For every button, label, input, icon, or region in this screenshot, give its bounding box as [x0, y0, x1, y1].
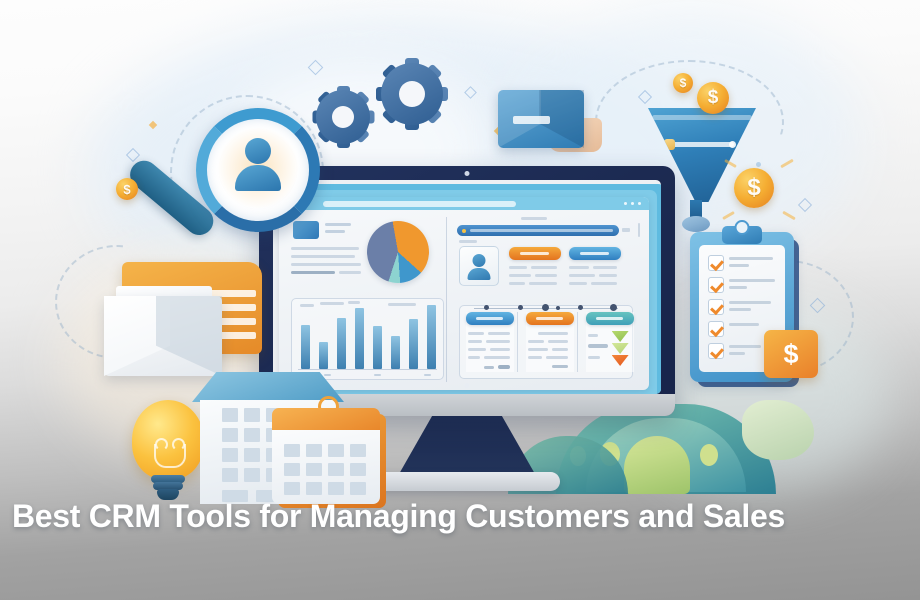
secondary-action-button[interactable]: [569, 247, 621, 260]
funnel-progress-tip: [729, 141, 736, 148]
chart-label: [320, 302, 344, 305]
calendar-cell: [328, 482, 344, 495]
card-line: [484, 356, 510, 359]
pane-heading: [521, 217, 547, 220]
text-line: [599, 274, 617, 277]
calendar-cell: [328, 444, 344, 457]
filter-button[interactable]: [622, 228, 630, 232]
gear-hole: [399, 81, 425, 107]
trend-up-chevron-icon: [612, 343, 629, 354]
bar: [355, 308, 364, 369]
window-control-dot[interactable]: [631, 202, 634, 205]
chart-label: [300, 304, 314, 307]
search-icon: [462, 229, 466, 233]
column-label: [536, 317, 563, 320]
card-line: [546, 356, 568, 359]
card-line: [548, 340, 568, 343]
magnifier-user-icon: [196, 108, 320, 232]
pie-chart: [367, 221, 429, 283]
search-input-value: [470, 229, 613, 232]
calendar-icon: [272, 408, 380, 504]
coin-label: $: [708, 87, 719, 109]
column-label: [476, 317, 503, 320]
pipeline-board: [459, 305, 633, 379]
envelope-letter: [513, 116, 549, 124]
text-line: [593, 266, 617, 269]
building-window: [222, 428, 238, 442]
card-line: [538, 332, 568, 335]
text-line: [509, 266, 527, 269]
calendar-cell: [284, 444, 300, 457]
checklist-item-line: [729, 301, 771, 304]
building-window: [222, 408, 238, 422]
contacts-pane: [451, 215, 643, 384]
bulb-filament: [154, 444, 186, 468]
thumbnail-label-line: [325, 230, 345, 233]
bar-chart: [291, 298, 444, 380]
checkbox-checked[interactable]: [708, 277, 724, 293]
gear-icon: [316, 90, 370, 144]
coin-dollar-icon: $: [116, 178, 138, 200]
checkbox-checked[interactable]: [708, 321, 724, 337]
pipeline-node[interactable]: [518, 305, 523, 310]
analytics-pane: [287, 215, 450, 384]
text-line: [291, 247, 359, 250]
clipboard-ring: [735, 220, 750, 235]
calendar-cell: [284, 463, 300, 476]
pipeline-column-won[interactable]: [586, 312, 634, 372]
card-line: [528, 348, 548, 351]
card-line: [490, 348, 510, 351]
funnel-progress-bar: [672, 142, 735, 147]
coin-dollar-icon: $: [734, 168, 774, 208]
card-footer-line: [552, 365, 568, 368]
dollar-card-icon: $: [764, 330, 818, 378]
building-window: [244, 428, 260, 442]
building-window: [222, 448, 238, 462]
funnel-rim: [652, 115, 751, 120]
pipeline-node[interactable]: [578, 305, 583, 310]
text-line: [459, 240, 477, 243]
building-window: [244, 448, 260, 462]
pipeline-column-deals[interactable]: [526, 312, 574, 372]
calendar-cell: [350, 444, 366, 457]
column-header[interactable]: [586, 312, 634, 325]
bar: [337, 318, 346, 369]
calendar-body: [272, 430, 380, 504]
user-head: [245, 138, 271, 164]
sparkle-icon: [756, 162, 761, 167]
checklist-item-line: [729, 257, 773, 260]
card-line: [468, 340, 482, 343]
gear-icon: [381, 63, 443, 125]
chart-label: [348, 301, 360, 304]
calendar-cell: [306, 444, 322, 457]
card-line: [488, 332, 510, 335]
column-header[interactable]: [526, 312, 574, 325]
button-label: [580, 252, 609, 255]
dollar-label: $: [783, 339, 798, 370]
pipeline-node[interactable]: [556, 306, 560, 310]
primary-action-button[interactable]: [509, 247, 561, 260]
window-titlebar: [279, 197, 649, 210]
chart-label: [388, 303, 416, 306]
text-line: [569, 274, 595, 277]
calendar-cell: [350, 463, 366, 476]
card-line: [552, 348, 568, 351]
text-line: [529, 282, 557, 285]
button-label: [520, 252, 549, 255]
checklist-item-line: [729, 323, 759, 326]
calendar-cell: [284, 482, 300, 495]
coin-label: $: [123, 182, 130, 197]
checklist-item-line: [729, 286, 747, 289]
crm-app-window: [279, 197, 649, 390]
window-control-dot[interactable]: [638, 202, 641, 205]
checklist-item-line: [729, 308, 751, 311]
card-line: [528, 340, 544, 343]
checklist-item-line: [729, 264, 749, 267]
bar: [301, 325, 310, 369]
text-line: [291, 255, 355, 258]
monitor-stand: [399, 412, 535, 474]
pipeline-node[interactable]: [610, 304, 617, 311]
bar: [427, 305, 436, 369]
trend-up-chevron-icon: [612, 331, 629, 342]
card-line: [468, 332, 484, 335]
text-line: [535, 274, 557, 277]
column-label: [596, 317, 623, 320]
coin-label: $: [680, 76, 687, 90]
calendar-cell: [306, 463, 322, 476]
pipeline-column-leads[interactable]: [466, 312, 514, 372]
checkbox-checked[interactable]: [708, 299, 724, 315]
bar: [373, 326, 382, 369]
calendar-cell: [350, 482, 366, 495]
mail-envelope-icon: [104, 296, 222, 376]
avatar-body: [467, 268, 490, 280]
indicator-dot: [465, 383, 470, 388]
coin-dollar-icon: $: [697, 82, 729, 114]
card-line: [528, 356, 542, 359]
text-line: [509, 274, 531, 277]
monitor-screen: [273, 180, 661, 394]
chart-axis: [298, 369, 437, 370]
text-line: [339, 271, 361, 274]
checkbox-checked[interactable]: [708, 255, 724, 271]
building-window: [244, 408, 260, 422]
funnel-drop: [682, 216, 710, 232]
window-control-dot[interactable]: [624, 202, 627, 205]
card-line: [486, 340, 510, 343]
thumbnail-label-line: [325, 223, 351, 226]
column-separator: [577, 312, 578, 372]
coin-dollar-icon: $: [673, 73, 693, 93]
filter-button[interactable]: [638, 223, 640, 237]
search-input[interactable]: [457, 225, 619, 236]
foliage-dot: [700, 444, 718, 466]
calendar-cell: [306, 482, 322, 495]
calendar-cell: [328, 463, 344, 476]
checklist-item-line: [729, 279, 775, 282]
pipeline-node[interactable]: [484, 305, 489, 310]
column-header[interactable]: [466, 312, 514, 325]
avatar-head: [472, 254, 485, 267]
webcam-dot: [465, 171, 470, 176]
gear-hole: [332, 106, 354, 128]
coin-label: $: [747, 174, 760, 202]
card-footer-line: [498, 365, 510, 369]
page-title: Best CRM Tools for Managing Customers an…: [12, 498, 785, 535]
trend-down-chevron-icon: [612, 355, 629, 366]
column-separator: [517, 312, 518, 372]
bar: [319, 342, 328, 369]
text-line: [569, 266, 589, 269]
bar: [409, 319, 418, 369]
bar: [391, 336, 400, 369]
building-window: [222, 468, 238, 482]
checklist-item-line: [729, 352, 745, 355]
calendar-header: [272, 408, 380, 432]
text-line: [509, 282, 525, 285]
card-line: [588, 334, 598, 337]
card-line: [588, 344, 608, 348]
text-line: [569, 282, 587, 285]
text-line: [531, 266, 557, 269]
envelope-icon: [498, 90, 584, 148]
monitor-base: [374, 472, 560, 491]
avatar[interactable]: [459, 246, 499, 286]
axis-tick: [424, 374, 431, 376]
card-footer-line: [484, 366, 494, 369]
card-line: [468, 356, 480, 359]
illustration-canvas: $ $ $ $ $: [0, 0, 920, 600]
building-window: [244, 468, 260, 482]
window-address-bar[interactable]: [323, 201, 515, 207]
text-line: [291, 271, 335, 274]
card-line: [468, 348, 486, 351]
axis-tick: [374, 374, 381, 376]
card-line: [588, 356, 600, 359]
checklist-item-line: [729, 345, 761, 348]
text-line: [591, 282, 617, 285]
checkbox-checked[interactable]: [708, 343, 724, 359]
foliage-shape: [624, 436, 690, 494]
text-line: [291, 263, 361, 266]
pipeline-node[interactable]: [542, 304, 549, 311]
